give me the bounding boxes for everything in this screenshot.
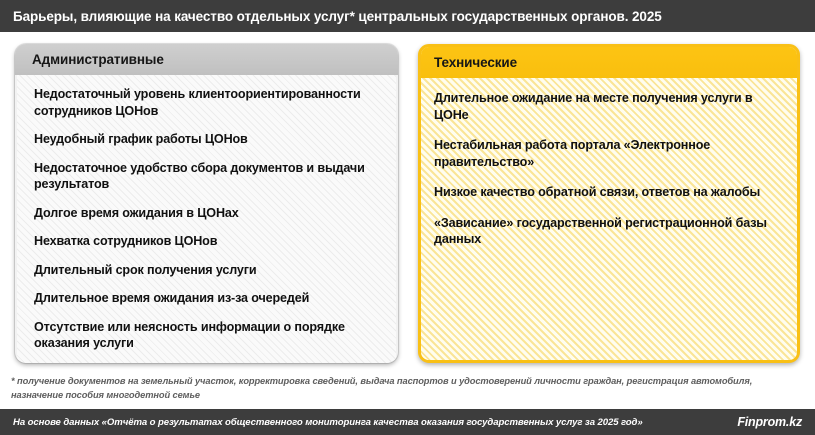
panel-technical: Технические Длительное ожидание на месте… [418, 44, 800, 363]
panel-administrative-body: Недостаточный уровень клиентоориентирова… [17, 75, 396, 363]
list-item: Отсутствие или неясность информации о по… [34, 319, 382, 352]
list-item: Недостаточное удобство сбора документов … [34, 160, 382, 193]
panels-container: Административные Недостаточный уровень к… [0, 32, 815, 370]
list-item: Низкое качество обратной связи, ответов … [434, 184, 783, 201]
title-bar: Барьеры, влияющие на качество отдельных … [0, 0, 815, 32]
list-item: Нехватка сотрудников ЦОНов [34, 233, 382, 250]
footer-bar: На основе данных «Отчёта о результатах о… [0, 409, 815, 435]
list-item: Долгое время ожидания в ЦОНах [34, 205, 382, 222]
brand-logo: Finprom.kz [737, 415, 815, 429]
panel-technical-body: Длительное ожидание на месте получения у… [421, 78, 797, 360]
list-item: «Зависание» государственной регистрацион… [434, 215, 783, 248]
list-item: Длительное время ожидания из-за очередей [34, 290, 382, 307]
panel-administrative: Административные Недостаточный уровень к… [15, 44, 398, 363]
footnote: * получение документов на земельный учас… [11, 374, 801, 402]
infographic-page: Барьеры, влияющие на качество отдельных … [0, 0, 815, 435]
page-title: Барьеры, влияющие на качество отдельных … [0, 9, 662, 24]
source-note: На основе данных «Отчёта о результатах о… [0, 417, 643, 428]
administrative-item-list: Недостаточный уровень клиентоориентирова… [34, 86, 382, 352]
panel-administrative-title: Административные [32, 52, 164, 67]
list-item: Длительное ожидание на месте получения у… [434, 90, 783, 123]
list-item: Недостаточный уровень клиентоориентирова… [34, 86, 382, 119]
list-item: Длительный срок получения услуги [34, 262, 382, 279]
list-item: Неудобный график работы ЦОНов [34, 131, 382, 148]
panel-technical-title: Технические [434, 55, 517, 70]
panel-administrative-header: Административные [15, 44, 398, 75]
list-item: Нестабильная работа портала «Электронное… [434, 137, 783, 170]
panel-technical-header: Технические [421, 47, 797, 78]
technical-item-list: Длительное ожидание на месте получения у… [434, 90, 783, 248]
